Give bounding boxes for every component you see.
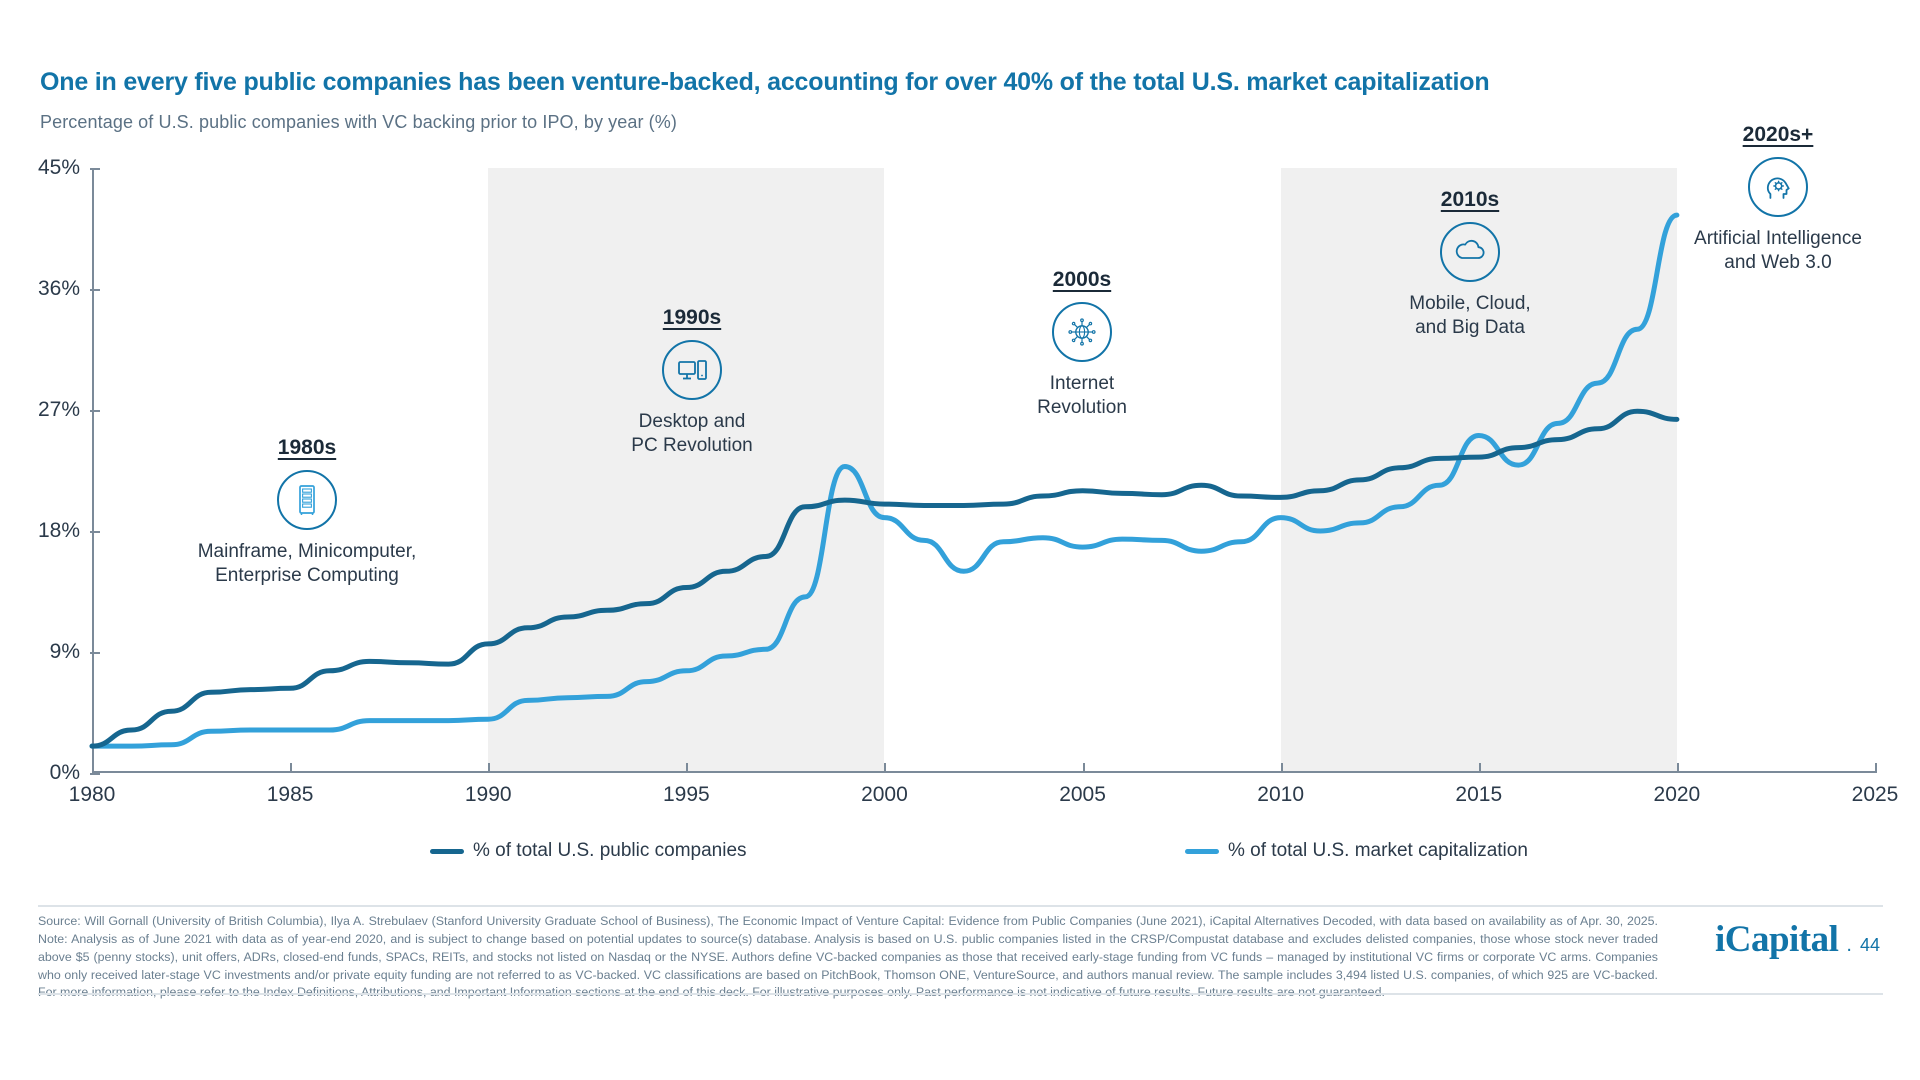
era-label: 1990s	[572, 306, 812, 330]
era-callout-2020s: 2020s+ Artific	[1658, 123, 1898, 274]
era-caption-line1: Desktop and	[572, 410, 812, 434]
page-title: One in every five public companies has b…	[40, 68, 1489, 97]
server-rack-icon	[277, 470, 337, 530]
era-label: 1980s	[187, 436, 427, 460]
legend-swatch	[430, 849, 464, 854]
era-caption-line1: Mainframe, Minicomputer,	[187, 540, 427, 564]
page-number: 44	[1860, 935, 1880, 956]
era-callout-1990s: 1990s Desktop and PC Revolution	[572, 306, 812, 457]
era-callout-2000s: 2000s	[962, 268, 1202, 419]
chart-plot-area: 0%9%18%27%36%45% 19801985199019952000200…	[92, 168, 1875, 773]
cloud-icon	[1440, 222, 1500, 282]
logo-dot: .	[1846, 934, 1852, 957]
head-gear-ai-icon	[1748, 157, 1808, 217]
era-caption-line1: Artificial Intelligence	[1658, 227, 1898, 251]
y-axis-tick-label: 36%	[38, 277, 80, 301]
globe-network-icon	[1052, 302, 1112, 362]
era-label: 2000s	[962, 268, 1202, 292]
x-axis-tick-label: 1995	[663, 783, 710, 807]
logo-wordmark: iCapital	[1715, 918, 1838, 961]
desktop-pc-icon	[662, 340, 722, 400]
y-axis-tick-label: 18%	[38, 519, 80, 543]
legend-item-public-companies: % of total U.S. public companies	[430, 840, 747, 862]
era-caption-line2: PC Revolution	[572, 434, 812, 458]
slide: One in every five public companies has b…	[0, 0, 1920, 1080]
era-callout-1980s: 1980s Mainframe, Minicomputer, Enterpris…	[187, 436, 427, 587]
era-caption-line1: Mobile, Cloud,	[1350, 292, 1590, 316]
y-axis-tick-label: 27%	[38, 398, 80, 422]
x-axis-tick	[1875, 763, 1877, 773]
era-caption-line1: Internet	[962, 372, 1202, 396]
legend-swatch	[1185, 849, 1219, 854]
footer-divider-top	[38, 905, 1883, 907]
era-caption-line2: and Big Data	[1350, 316, 1590, 340]
legend-item-market-capitalization: % of total U.S. market capitalization	[1185, 840, 1528, 862]
era-label: 2010s	[1350, 188, 1590, 212]
x-axis-tick-label: 1980	[69, 783, 116, 807]
era-caption-line2: Revolution	[962, 396, 1202, 420]
x-axis-tick-label: 2010	[1257, 783, 1304, 807]
chart-legend: % of total U.S. public companies % of to…	[0, 840, 1920, 870]
y-axis-tick	[90, 773, 100, 775]
x-axis-tick-label: 2015	[1455, 783, 1502, 807]
y-axis-tick-label: 0%	[50, 761, 80, 785]
era-caption-line2: Enterprise Computing	[187, 564, 427, 588]
x-axis-tick-label: 1990	[465, 783, 512, 807]
y-axis-tick-label: 9%	[50, 640, 80, 664]
legend-label: % of total U.S. public companies	[473, 840, 747, 862]
era-caption-line2: and Web 3.0	[1658, 251, 1898, 275]
icapital-logo: iCapital . 44	[1715, 918, 1880, 961]
y-axis-tick-label: 45%	[38, 156, 80, 180]
era-label: 2020s+	[1658, 123, 1898, 147]
source-footnote: Source: Will Gornall (University of Brit…	[38, 913, 1658, 1002]
x-axis-tick-label: 2000	[861, 783, 908, 807]
legend-label: % of total U.S. market capitalization	[1228, 840, 1528, 862]
page-subtitle: Percentage of U.S. public companies with…	[40, 112, 677, 133]
era-callout-2010s: 2010s Mobile, Cloud, and Big Data	[1350, 188, 1590, 339]
x-axis-tick-label: 2005	[1059, 783, 1106, 807]
footer-divider-bottom	[38, 993, 1883, 995]
x-axis-tick-label: 2025	[1852, 783, 1899, 807]
x-axis-tick-label: 2020	[1654, 783, 1701, 807]
x-axis-tick-label: 1985	[267, 783, 314, 807]
